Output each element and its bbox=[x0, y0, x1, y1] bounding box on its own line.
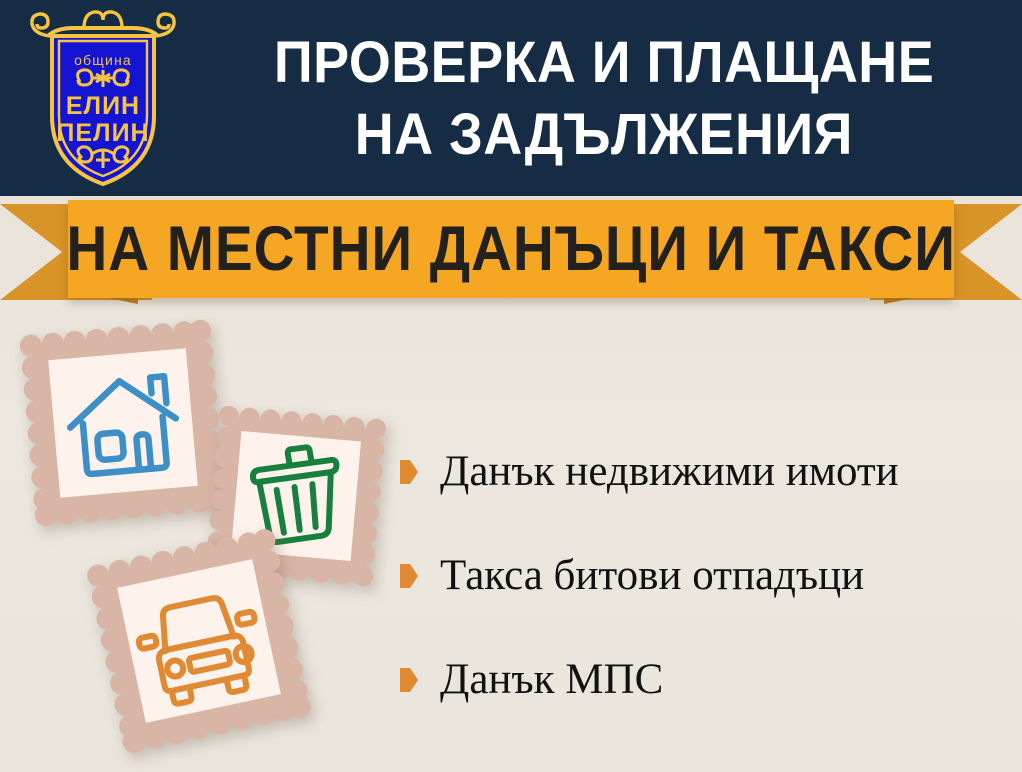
arrow-bullet-icon bbox=[400, 668, 418, 692]
stamp-card-group bbox=[0, 300, 400, 772]
list-item: Такса битови отпадъци bbox=[400, 524, 1012, 628]
poster-canvas: община ЕЛИН ПЕЛИН ПРОВЕРКА И ПЛАЩАНЕ НА … bbox=[0, 0, 1022, 772]
tax-type-list: Данък недвижими имоти Такса битови отпад… bbox=[400, 420, 1012, 732]
list-item: Данък недвижими имоти bbox=[400, 420, 1012, 524]
crest-label-top: община bbox=[74, 52, 132, 68]
list-item-label: Данък недвижими имоти bbox=[440, 448, 899, 496]
arrow-bullet-icon bbox=[400, 564, 418, 588]
crest-label-line2: ПЕЛИН bbox=[56, 119, 149, 147]
stamp-card-car bbox=[84, 526, 314, 756]
title-line-2: НА ЗАДЪЛЖЕНИЯ bbox=[355, 99, 853, 171]
poster-title: ПРОВЕРКА И ПЛАЩАНЕ НА ЗАДЪЛЖЕНИЯ bbox=[196, 16, 1012, 182]
ribbon-banner: НА МЕСТНИ ДАНЪЦИ И ТАКСИ bbox=[68, 200, 954, 298]
crest-label-line1: ЕЛИН bbox=[66, 92, 140, 120]
list-item-label: Данък МПС bbox=[440, 656, 663, 704]
municipality-crest-logo: община ЕЛИН ПЕЛИН bbox=[22, 8, 184, 190]
arrow-bullet-icon bbox=[400, 460, 418, 484]
subtitle-ribbon: НА МЕСТНИ ДАНЪЦИ И ТАКСИ bbox=[0, 196, 1022, 308]
list-item: Данък МПС bbox=[400, 628, 1012, 732]
list-item-label: Такса битови отпадъци bbox=[440, 552, 864, 600]
ribbon-text: НА МЕСТНИ ДАНЪЦИ И ТАКСИ bbox=[66, 216, 956, 282]
title-line-1: ПРОВЕРКА И ПЛАЩАНЕ bbox=[274, 27, 934, 99]
